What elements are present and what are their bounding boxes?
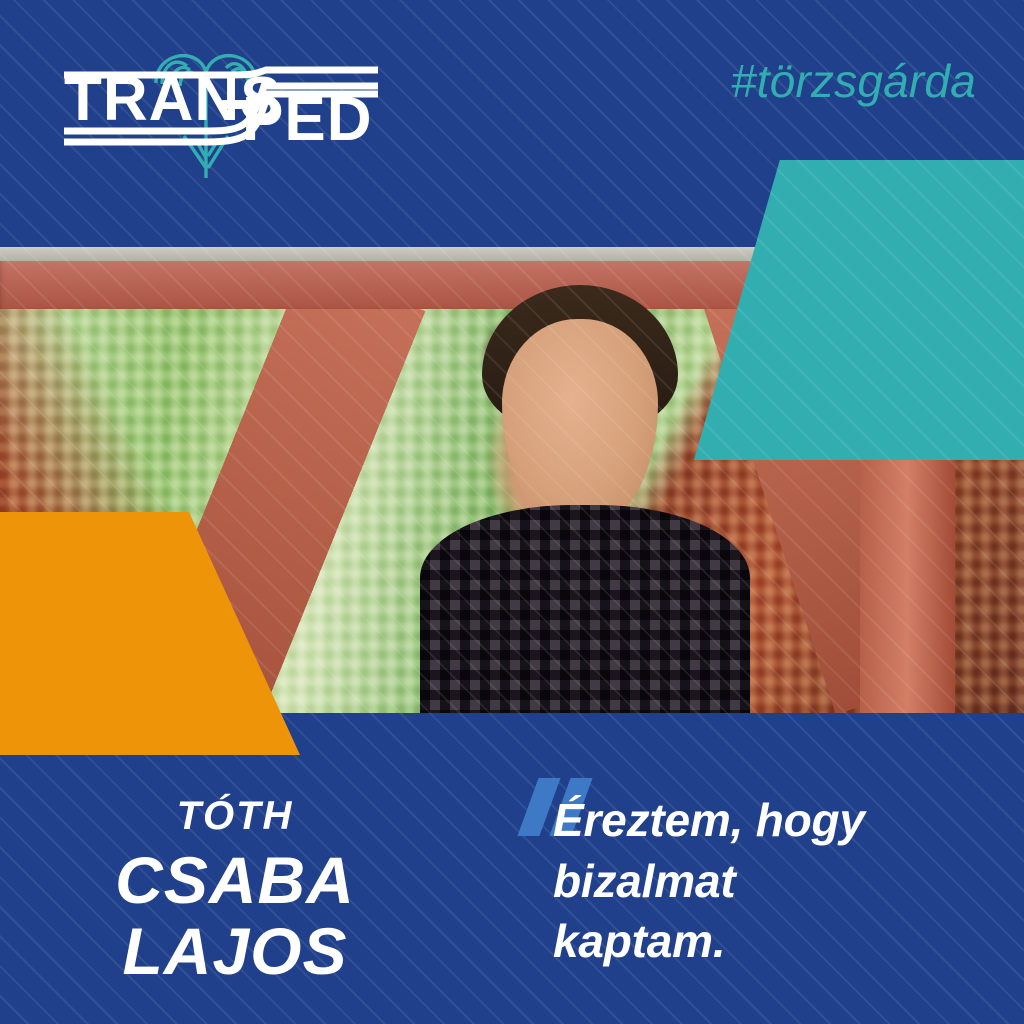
teal-accent-shape	[694, 160, 1024, 460]
person-surname: TÓTH	[0, 795, 470, 837]
quote-block: Éreztem, hogy bizalmat kaptam.	[553, 790, 983, 972]
quote-line-2: bizalmat	[553, 851, 983, 912]
quote-line-3: kaptam.	[553, 911, 983, 972]
photo-subject	[430, 267, 730, 713]
person-given-name-line2: LAJOS	[0, 916, 470, 987]
campaign-hashtag: #törzsgárda	[731, 54, 976, 108]
quote-text: Éreztem, hogy bizalmat kaptam.	[553, 790, 983, 972]
quote-line-1: Éreztem, hogy	[553, 790, 983, 851]
trans-sped-logo[interactable]: TRANS PED	[56, 28, 386, 178]
person-given-name: CSABA LAJOS	[0, 845, 470, 988]
person-name-block: TÓTH CSABA LAJOS	[0, 795, 470, 988]
person-given-name-line1: CSABA	[0, 845, 470, 916]
social-media-poster: TRANS PED #törzsgárda TÓTH CSABA LAJOS É…	[0, 0, 1024, 1024]
subject-face	[502, 319, 658, 529]
subject-shirt	[420, 505, 750, 713]
